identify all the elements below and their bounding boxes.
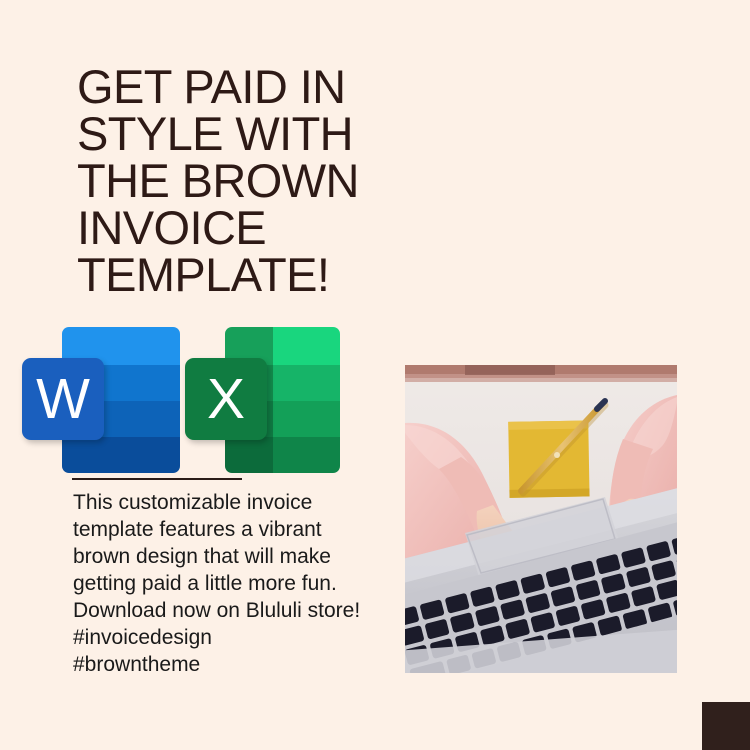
excel-spreadsheet-page [225, 327, 340, 473]
excel-cell-1 [225, 327, 273, 365]
excel-cell-2 [273, 327, 340, 365]
word-band-1 [62, 327, 180, 365]
excel-cell-4 [273, 365, 340, 401]
hands-typing-on-laptop-photo [405, 365, 677, 673]
photo-illustration [405, 365, 677, 673]
word-letter-badge: W [22, 358, 104, 440]
word-band-3 [62, 401, 180, 437]
divider [72, 478, 242, 480]
body-copy: This customizable invoice template featu… [73, 489, 373, 678]
poster-canvas: GET PAID IN STYLE WITH THE BROWN INVOICE… [0, 0, 750, 750]
microsoft-excel-icon: X [185, 327, 343, 473]
page-title: GET PAID IN STYLE WITH THE BROWN INVOICE… [77, 63, 407, 298]
microsoft-word-icon: W [22, 327, 182, 473]
word-band-2 [62, 365, 180, 401]
excel-cell-3 [225, 365, 273, 401]
excel-letter-badge: X [185, 358, 267, 440]
excel-cell-8 [273, 437, 340, 473]
excel-cell-6 [273, 401, 340, 437]
word-document-page [62, 327, 180, 473]
excel-cell-7 [225, 437, 273, 473]
word-band-4 [62, 437, 180, 473]
corner-accent-square [702, 702, 750, 750]
excel-cell-5 [225, 401, 273, 437]
